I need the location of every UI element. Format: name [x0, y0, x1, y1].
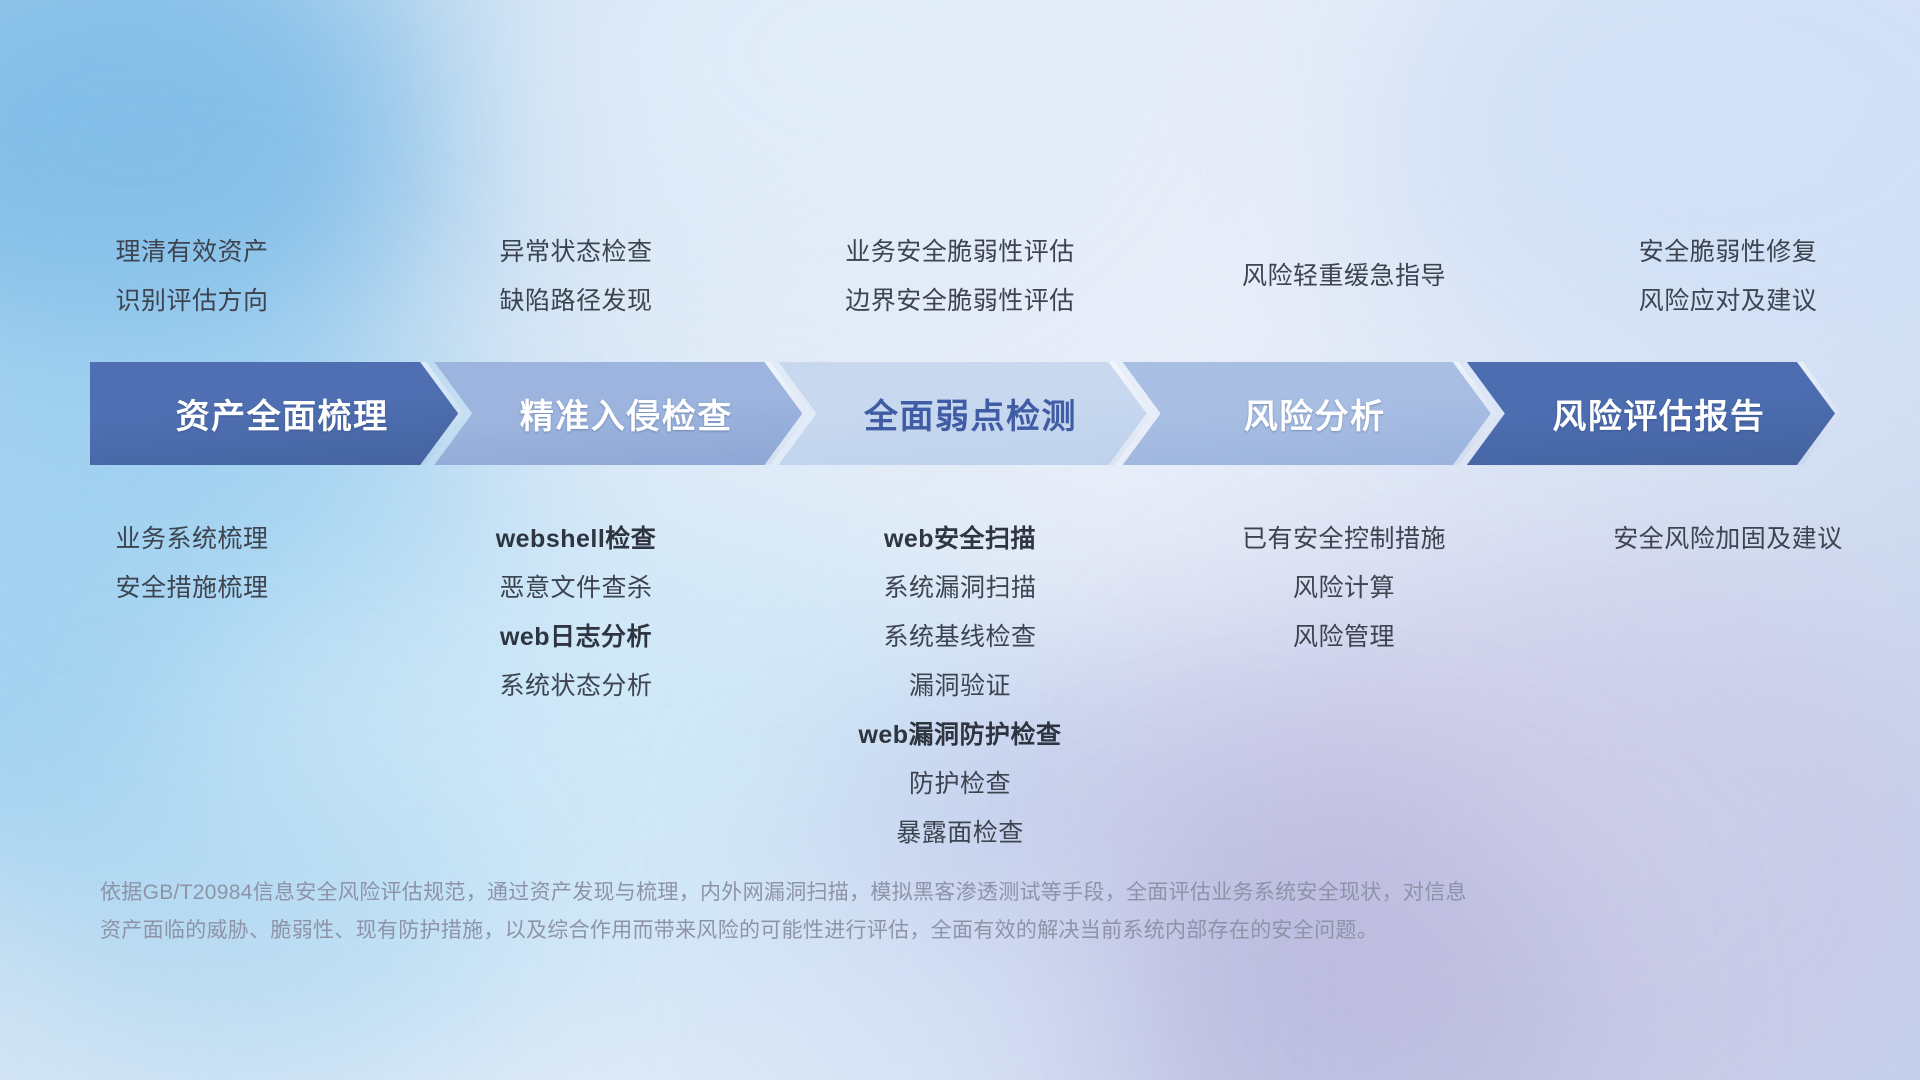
process-stage-label: 全面弱点检测 — [864, 389, 1077, 438]
top-note: 缺陷路径发现 — [499, 277, 652, 326]
bottom-notes-col-risk-analysis: 已有安全控制措施风险计算风险管理 — [1152, 515, 1536, 858]
process-stage-risk-report[interactable]: 风险评估报告 — [1467, 362, 1835, 465]
bottom-note: 漏洞验证 — [909, 662, 1011, 711]
bottom-note: 风险计算 — [1293, 564, 1395, 613]
top-notes-col-asset-inventory: 理清有效资产识别评估方向 — [0, 228, 384, 326]
top-note: 业务安全脆弱性评估 — [845, 228, 1075, 277]
top-note: 风险轻重缓急指导 — [1242, 252, 1446, 301]
top-notes-col-weakness-detection: 业务安全脆弱性评估边界安全脆弱性评估 — [768, 228, 1152, 326]
footer-line-2: 资产面临的威胁、脆弱性、现有防护措施，以及综合作用而带来风险的可能性进行评估，全… — [100, 912, 1740, 950]
bottom-note: 安全风险加固及建议 — [1613, 515, 1843, 564]
bottom-note: 风险管理 — [1293, 613, 1395, 662]
top-notes-row: 理清有效资产识别评估方向异常状态检查缺陷路径发现业务安全脆弱性评估边界安全脆弱性… — [0, 228, 1920, 326]
bottom-note: webshell检查 — [496, 515, 657, 564]
process-stage-intrusion-check[interactable]: 精准入侵检查 — [434, 362, 802, 465]
process-stage-label: 精准入侵检查 — [520, 389, 733, 438]
bottom-note: 恶意文件查杀 — [499, 564, 652, 613]
top-notes-col-risk-report: 安全脆弱性修复风险应对及建议 — [1536, 228, 1920, 326]
bottom-note: 系统基线检查 — [883, 613, 1036, 662]
bottom-note: 系统漏洞扫描 — [883, 564, 1036, 613]
bottom-note: 业务系统梳理 — [115, 515, 268, 564]
process-stage-asset-inventory[interactable]: 资产全面梳理 — [90, 362, 458, 465]
process-stage-label: 资产全面梳理 — [176, 389, 389, 438]
bottom-note: 安全措施梳理 — [115, 564, 268, 613]
top-notes-col-risk-analysis: 风险轻重缓急指导 — [1152, 228, 1536, 326]
process-stage-label: 风险分析 — [1244, 389, 1386, 438]
process-stage-label: 风险评估报告 — [1552, 389, 1765, 438]
bottom-note: web日志分析 — [500, 613, 652, 662]
bottom-note: web安全扫描 — [884, 515, 1036, 564]
bottom-notes-row: 业务系统梳理安全措施梳理webshell检查恶意文件查杀web日志分析系统状态分… — [0, 515, 1920, 858]
bottom-notes-col-risk-report: 安全风险加固及建议 — [1536, 515, 1920, 858]
bottom-note: web漏洞防护检查 — [858, 711, 1061, 760]
footer-description: 依据GB/T20984信息安全风险评估规范，通过资产发现与梳理，内外网漏洞扫描，… — [100, 874, 1740, 950]
top-notes-col-intrusion-check: 异常状态检查缺陷路径发现 — [384, 228, 768, 326]
bottom-note: 暴露面检查 — [896, 809, 1024, 858]
process-stage-weakness-detection[interactable]: 全面弱点检测 — [778, 362, 1146, 465]
top-note: 异常状态检查 — [499, 228, 652, 277]
bottom-notes-col-intrusion-check: webshell检查恶意文件查杀web日志分析系统状态分析 — [384, 515, 768, 858]
slide-canvas: 理清有效资产识别评估方向异常状态检查缺陷路径发现业务安全脆弱性评估边界安全脆弱性… — [0, 0, 1920, 1080]
bottom-note: 系统状态分析 — [499, 662, 652, 711]
bottom-note: 防护检查 — [909, 760, 1011, 809]
top-note: 识别评估方向 — [115, 277, 268, 326]
footer-line-1: 依据GB/T20984信息安全风险评估规范，通过资产发现与梳理，内外网漏洞扫描，… — [100, 874, 1740, 912]
process-flow-banner: 资产全面梳理精准入侵检查全面弱点检测风险分析风险评估报告 — [90, 362, 1835, 465]
top-note: 安全脆弱性修复 — [1639, 228, 1818, 277]
top-note: 理清有效资产 — [115, 228, 268, 277]
bottom-notes-col-asset-inventory: 业务系统梳理安全措施梳理 — [0, 515, 384, 858]
top-note: 风险应对及建议 — [1639, 277, 1818, 326]
process-stage-risk-analysis[interactable]: 风险分析 — [1123, 362, 1491, 465]
bottom-note: 已有安全控制措施 — [1242, 515, 1446, 564]
bottom-notes-col-weakness-detection: web安全扫描系统漏洞扫描系统基线检查漏洞验证web漏洞防护检查防护检查暴露面检… — [768, 515, 1152, 858]
top-note: 边界安全脆弱性评估 — [845, 277, 1075, 326]
